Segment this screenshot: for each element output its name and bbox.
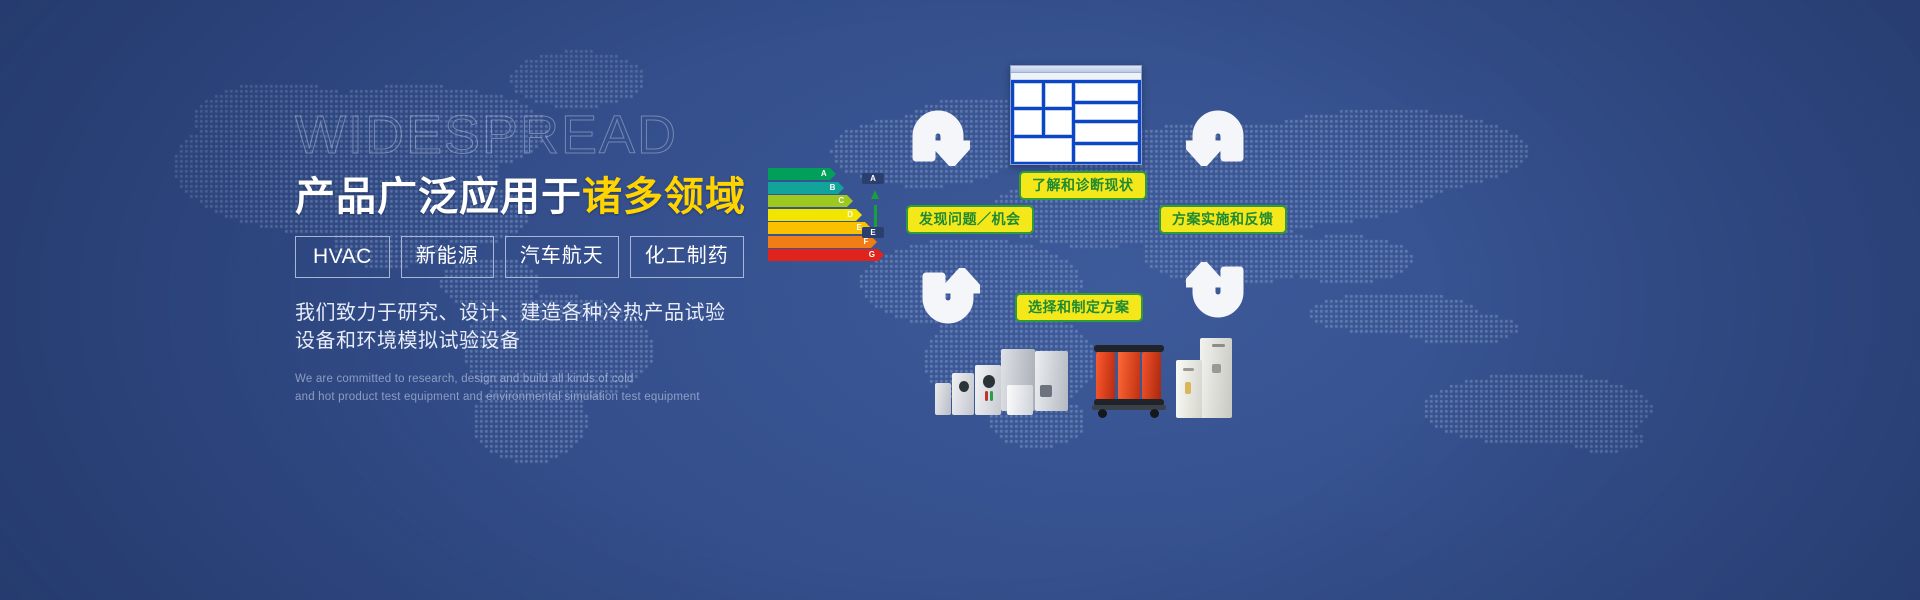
panel [1014, 138, 1072, 162]
cycle-badge-3[interactable]: 选择和制定方案 [1015, 293, 1143, 322]
control-software-screenshot [1010, 65, 1142, 165]
energy-bar-C: C [768, 195, 847, 207]
description-line-2: 设备和环境模拟试验设备 [295, 327, 765, 355]
ghost-title: WIDESPREAD [295, 108, 765, 162]
category-tag-2[interactable]: 新能源 [401, 236, 494, 278]
panel [1075, 83, 1138, 101]
window-left-panels [1014, 83, 1072, 162]
description-english: We are committed to research, design and… [295, 371, 765, 407]
energy-bar-F: F [768, 236, 871, 248]
panel [1014, 110, 1042, 134]
window-toolbar [1011, 73, 1141, 80]
energy-bar-G: G [768, 249, 878, 261]
energy-bar-label: B [830, 184, 839, 192]
arrow-top-right-icon [1186, 108, 1248, 166]
energy-marker-caption [862, 164, 892, 173]
energy-arrow-head-icon [871, 190, 879, 199]
energy-bar-E: E [768, 222, 865, 234]
description: 我们致力于研究、设计、建造各种冷热产品试验 设备和环境模拟试验设备 [295, 299, 765, 356]
energy-bar-B: B [768, 182, 838, 194]
energy-bar-label: F [864, 238, 872, 246]
english-line-1: We are committed to research, design and… [295, 371, 765, 389]
hero-text-block: WIDESPREAD 产品广泛应用于诸多领域 HVAC新能源汽车航天化工制药 我… [295, 108, 765, 406]
product-enclosure-cabinets [1176, 338, 1232, 418]
window-body [1011, 80, 1141, 165]
cycle-badge-1[interactable]: 了解和诊断现状 [1019, 171, 1147, 200]
category-tag-3[interactable]: 汽车航天 [505, 236, 619, 278]
page-title: 产品广泛应用于诸多领域 [295, 174, 765, 220]
panel [1075, 145, 1138, 162]
panel [1014, 83, 1042, 107]
category-tag-4[interactable]: 化工制药 [630, 236, 744, 278]
product-drive-and-cabinet-units [935, 345, 1070, 415]
arrow-bottom-left-icon [918, 268, 980, 326]
energy-bar-label: C [838, 197, 847, 205]
category-tag-list: HVAC新能源汽车航天化工制药 [295, 236, 765, 278]
panel [1075, 104, 1138, 119]
panel [1045, 110, 1073, 134]
product-transformer-coils [1092, 345, 1170, 415]
headline-accent: 诸多领域 [582, 175, 746, 219]
window-titlebar [1011, 66, 1141, 73]
cycle-badge-2[interactable]: 方案实施和反馈 [1159, 205, 1287, 234]
panel [1075, 123, 1138, 143]
energy-bar-label: A [821, 170, 830, 178]
hero-banner: WIDESPREAD 产品广泛应用于诸多领域 HVAC新能源汽车航天化工制药 我… [0, 0, 1920, 600]
english-line-2: and hot product test equipment and envir… [295, 389, 765, 407]
arrow-bottom-right-icon [1186, 262, 1248, 320]
energy-marker-top: A [862, 173, 884, 184]
energy-bar-label: G [869, 251, 878, 259]
panel [1045, 83, 1073, 107]
energy-bar-D: D [768, 209, 856, 221]
cycle-badge-4[interactable]: 发现问题／机会 [906, 205, 1034, 234]
headline-white: 产品广泛应用于 [295, 175, 582, 219]
description-line-1: 我们致力于研究、设计、建造各种冷热产品试验 [295, 299, 765, 327]
category-tag-1[interactable]: HVAC [295, 236, 390, 278]
energy-arrow-stem-icon [874, 205, 877, 227]
energy-marker-bottom: E [862, 227, 884, 238]
energy-label-markers: A E [862, 164, 892, 238]
energy-bar-A: A [768, 168, 830, 180]
arrow-top-left-icon [908, 108, 970, 166]
energy-bar-label: D [847, 211, 856, 219]
window-right-panels [1075, 83, 1138, 162]
